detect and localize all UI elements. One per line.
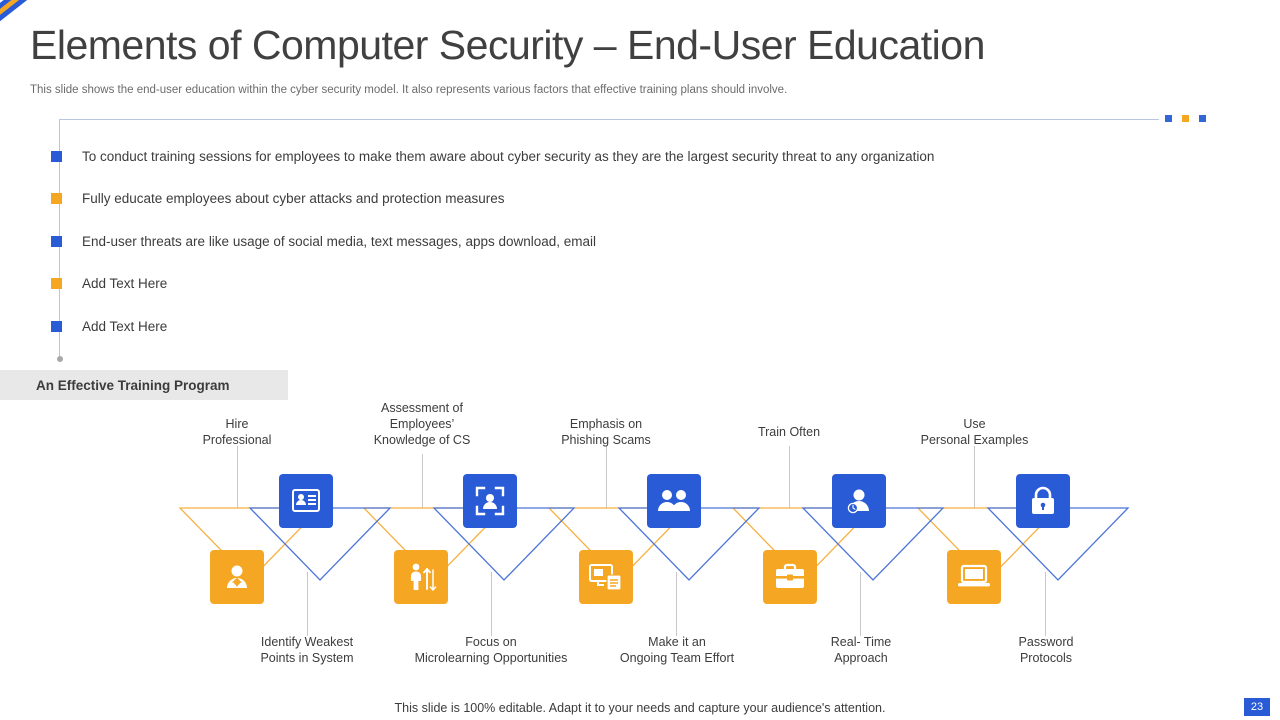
bullet-text: Add Text Here — [82, 319, 167, 334]
icon-box-two-users[interactable] — [647, 474, 701, 528]
briefcase-icon — [774, 562, 806, 592]
bottom-label-4: Real- Time Approach — [790, 634, 932, 666]
page-title: Elements of Computer Security – End-User… — [30, 22, 985, 69]
top-label-line: Hire Professional — [177, 416, 297, 448]
top-label-2: Assessment of Employees’ Knowledge of CS — [362, 400, 482, 448]
monitor-docs-icon — [589, 562, 623, 592]
bullet-panel: To conduct training sessions for employe… — [59, 119, 1206, 359]
user-gear-icon — [221, 561, 253, 593]
icon-box-laptop[interactable] — [947, 550, 1001, 604]
bullet-text: End-user threats are like usage of socia… — [82, 234, 596, 249]
footer-note: This slide is 100% editable. Adapt it to… — [0, 701, 1280, 715]
bottom-label-1: Identify Weakest Points in System — [237, 634, 377, 666]
deco-dot-blue-1 — [1165, 115, 1172, 122]
bullet-marker-icon — [51, 193, 62, 204]
bullet-marker-icon — [51, 321, 62, 332]
top-label-1: Hire Professional — [177, 416, 297, 448]
training-program-diagram: Hire Professional Assessment of Employee… — [0, 398, 1280, 678]
user-clock-icon — [843, 485, 875, 517]
bullet-text: Add Text Here — [82, 276, 167, 291]
bullet-item-3: End-user threats are like usage of socia… — [51, 234, 596, 249]
bottom-label-line: Make it an Ongoing Team Effort — [606, 634, 748, 666]
icon-box-person-arrows[interactable] — [394, 550, 448, 604]
icon-box-user-clock[interactable] — [832, 474, 886, 528]
top-label-line: Assessment of Employees’ Knowledge of CS — [362, 400, 482, 448]
bottom-label-5: Password Protocols — [975, 634, 1117, 666]
icon-box-briefcase[interactable] — [763, 550, 817, 604]
icon-box-user-gear[interactable] — [210, 550, 264, 604]
screen-user-icon — [290, 485, 322, 517]
top-label-line: Emphasis on Phishing Scams — [546, 416, 666, 448]
top-label-4: Train Often — [729, 424, 849, 440]
bottom-label-2: Focus on Microlearning Opportunities — [391, 634, 591, 666]
top-label-line: Use Personal Examples — [902, 416, 1047, 448]
bullet-text: To conduct training sessions for employe… — [82, 149, 934, 164]
section-label-banner: An Effective Training Program — [0, 370, 288, 400]
deco-dot-orange — [1182, 115, 1189, 122]
bullet-item-1: To conduct training sessions for employe… — [51, 149, 934, 164]
bottom-label-line: Real- Time Approach — [790, 634, 932, 666]
deco-dot-blue-2 — [1199, 115, 1206, 122]
page-subtitle: This slide shows the end-user education … — [30, 84, 787, 96]
bullet-item-4: Add Text Here — [51, 276, 167, 291]
bullet-marker-icon — [51, 278, 62, 289]
bottom-label-3: Make it an Ongoing Team Effort — [606, 634, 748, 666]
bullet-marker-icon — [51, 236, 62, 247]
panel-top-rule — [59, 119, 1159, 120]
laptop-icon — [957, 563, 991, 591]
top-label-line: Train Often — [729, 424, 849, 440]
top-label-3: Emphasis on Phishing Scams — [546, 416, 666, 448]
bottom-label-line: Password Protocols — [975, 634, 1117, 666]
bullet-item-2: Fully educate employees about cyber atta… — [51, 191, 504, 206]
section-label-text: An Effective Training Program — [36, 378, 230, 393]
top-label-5: Use Personal Examples — [902, 416, 1047, 448]
icon-box-padlock[interactable] — [1016, 474, 1070, 528]
icon-box-screen-user[interactable] — [279, 474, 333, 528]
bullet-item-5: Add Text Here — [51, 319, 167, 334]
person-arrows-icon — [405, 561, 437, 593]
icon-box-monitor-docs[interactable] — [579, 550, 633, 604]
icon-box-user-frame[interactable] — [463, 474, 517, 528]
dots-decoration — [1165, 115, 1206, 122]
page-number-badge: 23 — [1244, 698, 1270, 716]
bullet-text: Fully educate employees about cyber atta… — [82, 191, 504, 206]
bullet-marker-icon — [51, 151, 62, 162]
bottom-label-line: Identify Weakest Points in System — [237, 634, 377, 666]
user-frame-icon — [474, 485, 506, 517]
two-users-icon — [657, 486, 691, 516]
bottom-label-line: Focus on Microlearning Opportunities — [391, 634, 591, 666]
padlock-icon — [1028, 485, 1058, 517]
